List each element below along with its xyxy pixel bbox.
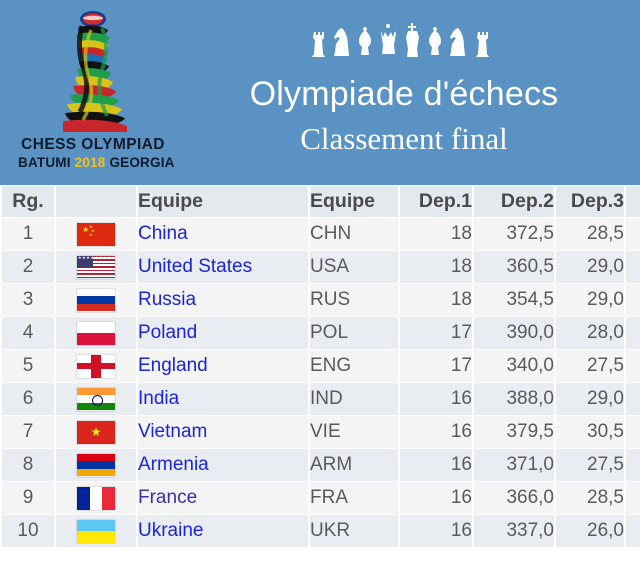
banner-title-block: Olympiade d'échecs Classement final: [168, 0, 640, 185]
row-rank: 2: [2, 251, 54, 283]
row-dep1: 16: [400, 515, 472, 547]
row-team-code: CHN: [310, 218, 398, 250]
row-flag: [56, 317, 136, 349]
table-row[interactable]: 6IndiaIND16388,029,0156: [2, 383, 640, 415]
row-dep2: 379,5: [474, 416, 554, 448]
row-dep2: 340,0: [474, 350, 554, 382]
row-dep1: 18: [400, 251, 472, 283]
column-header-rank[interactable]: Rg.: [2, 186, 54, 217]
row-dep3: 27,5: [556, 449, 624, 481]
flag-icon-pl: [77, 322, 115, 345]
row-dep2: 372,5: [474, 218, 554, 250]
row-dep3: 28,0: [556, 317, 624, 349]
team-name-link[interactable]: Armenia: [138, 454, 209, 475]
flag-icon-us: ★★★★★★★★★★★★★★★★★★: [77, 256, 115, 279]
table-row[interactable]: 9FranceFRA16366,028,5153: [2, 482, 640, 514]
team-name-link[interactable]: Ukraine: [138, 520, 203, 541]
table-row[interactable]: 8ArmeniaARM16371,027,5152: [2, 449, 640, 481]
row-dep1: 16: [400, 449, 472, 481]
row-dep2: 354,5: [474, 284, 554, 316]
row-team-code: RUS: [310, 284, 398, 316]
row-team-code: VIE: [310, 416, 398, 448]
row-dep2: 388,0: [474, 383, 554, 415]
table-row[interactable]: 5EnglandENG17340,027,5142: [2, 350, 640, 382]
row-team-code: ARM: [310, 449, 398, 481]
row-rank: 4: [2, 317, 54, 349]
row-team[interactable]: Ukraine: [138, 515, 308, 547]
row-dep1: 16: [400, 416, 472, 448]
row-dep4: 152: [626, 449, 640, 481]
flag-icon-ua: [77, 520, 115, 543]
row-dep4: 142: [626, 350, 640, 382]
row-dep3: 28,5: [556, 218, 624, 250]
row-flag: [56, 383, 136, 415]
table-row[interactable]: 4PolandPOL17390,028,0158: [2, 317, 640, 349]
standings-table: Rg. Equipe Equipe Dep.1 Dep.2 Dep.3 Dep.…: [0, 185, 640, 548]
row-dep1: 17: [400, 350, 472, 382]
row-dep1: 18: [400, 218, 472, 250]
row-dep4: 156: [626, 383, 640, 415]
row-rank: 3: [2, 284, 54, 316]
row-dep1: 17: [400, 317, 472, 349]
team-name-link[interactable]: United States: [138, 256, 252, 277]
row-team[interactable]: Armenia: [138, 449, 308, 481]
row-flag: [56, 350, 136, 382]
chess-olympiad-logo: CHESS OLYMPIAD BATUMI 2018 GEORGIA: [18, 8, 168, 178]
row-dep4: 153: [626, 482, 640, 514]
row-flag: [56, 515, 136, 547]
row-flag: ★★★★★★★★★★★★★★★★★★: [56, 251, 136, 283]
flag-icon-in: [77, 388, 115, 411]
row-team-code: IND: [310, 383, 398, 415]
row-rank: 1: [2, 218, 54, 250]
row-flag: [56, 449, 136, 481]
table-row[interactable]: 2★★★★★★★★★★★★★★★★★★United StatesUSA18360…: [2, 251, 640, 283]
row-team[interactable]: Vietnam: [138, 416, 308, 448]
row-flag: ★: [56, 416, 136, 448]
team-name-link[interactable]: Vietnam: [138, 421, 207, 442]
row-team-code: POL: [310, 317, 398, 349]
row-team-code: ENG: [310, 350, 398, 382]
row-flag: ★★★★: [56, 218, 136, 250]
row-rank: 5: [2, 350, 54, 382]
row-dep4: 158: [626, 317, 640, 349]
table-row[interactable]: 10UkraineUKR16337,026,0152: [2, 515, 640, 547]
column-header-dep2[interactable]: Dep.2: [474, 186, 554, 217]
row-dep4: 152: [626, 515, 640, 547]
row-team[interactable]: Poland: [138, 317, 308, 349]
page-banner: CHESS OLYMPIAD BATUMI 2018 GEORGIA: [0, 0, 640, 185]
row-team[interactable]: Russia: [138, 284, 308, 316]
row-flag: [56, 482, 136, 514]
table-body: 1★★★★ChinaCHN18372,528,51492★★★★★★★★★★★★…: [2, 218, 640, 547]
row-dep2: 371,0: [474, 449, 554, 481]
table-header-row: Rg. Equipe Equipe Dep.1 Dep.2 Dep.3 Dep.…: [2, 186, 640, 217]
logo-wordmark: CHESS OLYMPIAD BATUMI 2018 GEORGIA: [18, 136, 168, 171]
logo-line-1: CHESS OLYMPIAD: [18, 136, 168, 153]
flag-icon-am: [77, 454, 115, 477]
row-dep4: 149: [626, 218, 640, 250]
table-row[interactable]: 1★★★★ChinaCHN18372,528,5149: [2, 218, 640, 250]
column-header-team[interactable]: Equipe: [138, 186, 308, 217]
team-name-link[interactable]: India: [138, 388, 179, 409]
row-dep3: 29,0: [556, 251, 624, 283]
row-dep2: 360,5: [474, 251, 554, 283]
row-dep3: 30,5: [556, 416, 624, 448]
standings-table-container: Rg. Equipe Equipe Dep.1 Dep.2 Dep.3 Dep.…: [0, 185, 640, 563]
row-flag: [56, 284, 136, 316]
row-dep2: 337,0: [474, 515, 554, 547]
row-rank: 8: [2, 449, 54, 481]
row-team-code: USA: [310, 251, 398, 283]
row-dep3: 26,0: [556, 515, 624, 547]
row-dep3: 29,0: [556, 284, 624, 316]
row-dep3: 28,5: [556, 482, 624, 514]
team-name-link[interactable]: China: [138, 223, 188, 244]
flag-icon-en: [77, 355, 115, 378]
row-team[interactable]: England: [138, 350, 308, 382]
page-subtitle: Classement final: [300, 120, 507, 158]
team-name-link[interactable]: France: [138, 487, 197, 508]
team-name-link[interactable]: Russia: [138, 289, 196, 310]
chess-pieces-row-icon: [309, 22, 499, 64]
column-header-dep3[interactable]: Dep.3: [556, 186, 624, 217]
column-header-dep1[interactable]: Dep.1: [400, 186, 472, 217]
flag-icon-cn: ★★★★: [77, 223, 115, 246]
logo-year: 2018: [75, 155, 106, 170]
flag-icon-fr: [77, 487, 115, 510]
row-dep1: 16: [400, 383, 472, 415]
row-team[interactable]: France: [138, 482, 308, 514]
row-team[interactable]: India: [138, 383, 308, 415]
row-dep4: 144: [626, 284, 640, 316]
row-team[interactable]: United States: [138, 251, 308, 283]
team-name-link[interactable]: Poland: [138, 322, 197, 343]
row-dep4: 147: [626, 251, 640, 283]
chess-olympiad-final-standings: CHESS OLYMPIAD BATUMI 2018 GEORGIA: [0, 0, 640, 563]
row-dep1: 16: [400, 482, 472, 514]
row-team-code: FRA: [310, 482, 398, 514]
row-rank: 10: [2, 515, 54, 547]
logo-queen-icon: [18, 8, 168, 138]
row-dep4: 138: [626, 416, 640, 448]
page-title: Olympiade d'échecs: [250, 74, 559, 114]
table-header: Rg. Equipe Equipe Dep.1 Dep.2 Dep.3 Dep.…: [2, 186, 640, 217]
column-header-dep4[interactable]: Dep.4: [626, 186, 640, 217]
row-team-code: UKR: [310, 515, 398, 547]
flag-icon-ru: [77, 289, 115, 312]
row-rank: 9: [2, 482, 54, 514]
row-dep2: 366,0: [474, 482, 554, 514]
row-dep3: 27,5: [556, 350, 624, 382]
row-dep3: 29,0: [556, 383, 624, 415]
row-dep2: 390,0: [474, 317, 554, 349]
logo-country: GEORGIA: [109, 155, 174, 170]
row-dep1: 18: [400, 284, 472, 316]
row-rank: 6: [2, 383, 54, 415]
column-header-code[interactable]: Equipe: [310, 186, 398, 217]
row-rank: 7: [2, 416, 54, 448]
team-name-link[interactable]: England: [138, 355, 208, 376]
table-row[interactable]: 7★VietnamVIE16379,530,5138: [2, 416, 640, 448]
table-row[interactable]: 3RussiaRUS18354,529,0144: [2, 284, 640, 316]
row-team[interactable]: China: [138, 218, 308, 250]
column-header-flag[interactable]: [56, 186, 136, 217]
logo-line-2: BATUMI 2018 GEORGIA: [18, 155, 168, 171]
flag-icon-vn: ★: [77, 421, 115, 444]
logo-city: BATUMI: [18, 155, 71, 170]
